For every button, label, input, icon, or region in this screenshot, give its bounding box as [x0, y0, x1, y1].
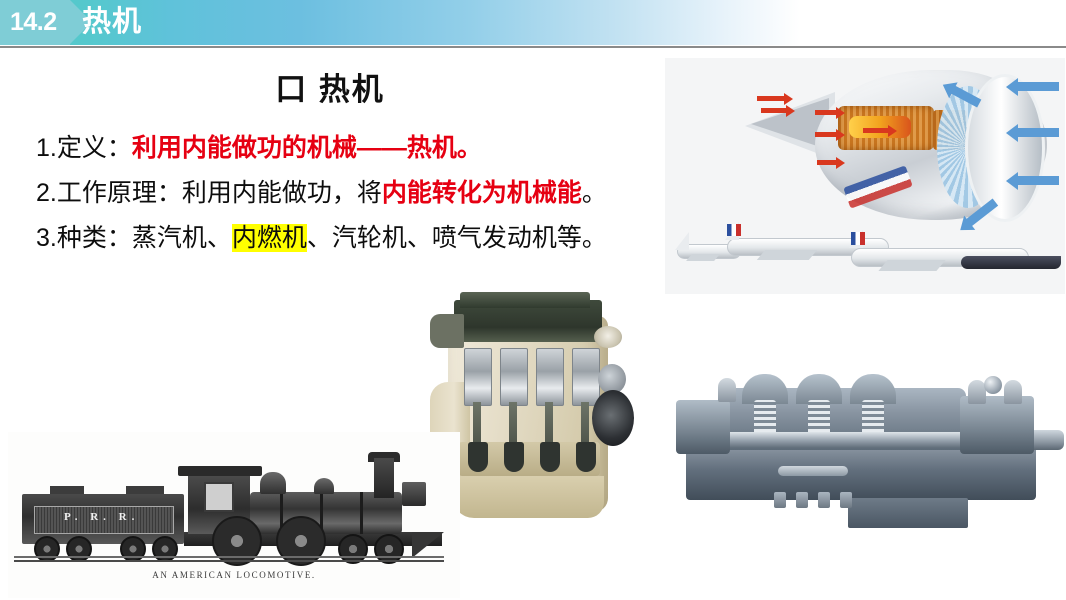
engine-intake-port: [594, 326, 622, 348]
jet-exhaust-arrow-1: [757, 96, 785, 101]
engine-oil-pan: [452, 476, 604, 518]
body-line-2: 2.工作原理：利用内能做功，将内能转化为机械能。: [36, 171, 666, 216]
turbine-valve-1: [718, 378, 736, 402]
loco-ground-line: [14, 560, 444, 562]
line2-seg-tail: 。: [582, 179, 607, 207]
turbine-governor-ball: [984, 376, 1002, 394]
loco-smokestack: [374, 458, 394, 498]
line1-seg-emphasis: 利用内能做功的机械——热机。: [132, 134, 482, 162]
turbine-foot-4: [840, 492, 852, 508]
page-title: 口 热机: [0, 64, 660, 109]
aircraft-airliner-1-fin-stripe: [727, 224, 741, 236]
engine-counterweight-3: [540, 442, 560, 472]
jet-exhaust-arrow-3: [815, 110, 837, 115]
header-banner: 14.2 热机: [0, 0, 1066, 45]
loco-caption: AN AMERICAN LOCOMOTIVE.: [8, 570, 460, 580]
jet-intake-arrow-1: [1017, 82, 1059, 91]
line3-seg-label: 3.种类：蒸汽机、: [36, 224, 232, 252]
slide-root: 14.2 热机 口 热机 1.定义：利用内能做功的机械——热机。 2.工作原理：…: [0, 0, 1066, 600]
body-text-block: 1.定义：利用内能做功的机械——热机。 2.工作原理：利用内能做功，将内能转化为…: [36, 126, 666, 261]
turbine-foot-3: [818, 492, 830, 508]
loco-driver-wheel-1: [212, 516, 262, 566]
jet-exhaust-arrow-5: [863, 128, 889, 133]
loco-boiler-band-3: [360, 492, 363, 534]
turbine-inlet-end-casing: [676, 400, 730, 454]
aircraft-airliner-2-fin-stripe: [851, 232, 865, 245]
banner-section-number: 14.2: [10, 7, 57, 37]
engine-counterweight-4: [576, 442, 596, 472]
jet-flame: [849, 116, 911, 138]
loco-tender-wheel-3: [120, 536, 146, 562]
loco-driver-wheel-2: [276, 516, 326, 566]
combustion-engine-image: [430, 290, 645, 530]
engine-cylinder-1: [464, 348, 492, 406]
aircraft-airliner-1-wing: [757, 250, 817, 260]
loco-tender-wheel-4: [152, 536, 178, 562]
engine-crank-pulley: [592, 390, 634, 446]
loco-tender-wheel-2: [66, 536, 92, 562]
aircraft-supersonic: [961, 256, 1061, 269]
loco-cab-window: [204, 482, 234, 512]
line1-seg-label: 1.定义：: [36, 134, 132, 162]
loco-tender-label: P. R. R.: [64, 511, 139, 523]
loco-cab-roof: [178, 466, 262, 476]
loco-sand-dome: [314, 478, 334, 494]
engine-valve-cover: [460, 292, 590, 308]
turbine-pedestal: [848, 498, 968, 528]
loco-boiler: [250, 492, 402, 534]
aircraft-airliner-2-wing: [878, 260, 945, 271]
line3-seg-highlight: 内燃机: [232, 224, 307, 252]
loco-tender-wheel-1: [34, 536, 60, 562]
aircraft-fighter-wing: [686, 254, 720, 261]
line3-seg-tail: 、汽轮机、喷气发动机等。: [307, 224, 607, 252]
jet-inlet-ring: [965, 74, 1045, 222]
turbine-drain-pipe: [778, 466, 848, 476]
locomotive-image: P. R. R. AN AMERICAN LOCOMOTIVE.: [8, 432, 460, 598]
engine-cylinder-2: [500, 348, 528, 406]
engine-cylinder-4: [572, 348, 600, 406]
turbine-foot-1: [774, 492, 786, 508]
line2-seg-label: 2.工作原理：利用内能做功，将: [36, 179, 382, 207]
line2-seg-emphasis: 内能转化为机械能: [382, 179, 582, 207]
jet-exhaust-arrow-6: [817, 160, 837, 165]
loco-steam-dome: [260, 472, 286, 494]
engine-counterweight-2: [504, 442, 524, 472]
jet-intake-arrow-3: [1017, 176, 1059, 185]
aircraft-fighter-tail: [675, 232, 689, 250]
body-line-1: 1.定义：利用内能做功的机械——热机。: [36, 126, 666, 171]
turbine-exhaust-end-casing: [960, 396, 1034, 454]
steam-turbine-image: [668, 360, 1066, 530]
banner-section-title: 热机: [82, 4, 142, 40]
engine-counterweight-1: [468, 442, 488, 472]
loco-cowcatcher: [412, 532, 444, 558]
turbine-foot-2: [796, 492, 808, 508]
jet-exhaust-arrow-4: [815, 132, 837, 137]
loco-headlamp: [402, 482, 426, 506]
engine-cylinder-3: [536, 348, 564, 406]
turbine-valve-3: [1004, 380, 1022, 404]
loco-rail: [14, 556, 444, 558]
jet-intake-arrow-2: [1017, 128, 1059, 137]
jet-exhaust-arrow-2: [761, 108, 787, 113]
body-line-3: 3.种类：蒸汽机、内燃机、汽轮机、喷气发动机等。: [36, 216, 666, 261]
engine-exhaust-manifold: [430, 314, 464, 348]
jet-engine-image: [665, 58, 1065, 294]
header-divider: [0, 46, 1066, 48]
